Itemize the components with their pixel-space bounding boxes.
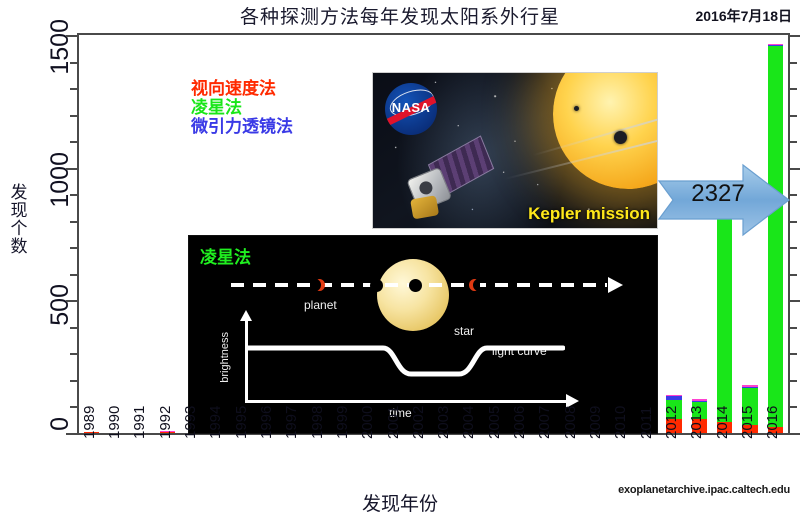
y-tick — [70, 274, 79, 276]
y-tick — [70, 115, 79, 117]
y-tick — [66, 168, 79, 170]
y-tick-right — [788, 115, 797, 117]
bar-segment — [666, 396, 681, 399]
exoplanet-discovery-chart: 各种探测方法每年发现太阳系外行星 2016年7月18日 发现个数 0500100… — [0, 0, 800, 519]
nasa-wordmark: NASA — [385, 100, 437, 115]
kepler-caption: Kepler mission — [528, 204, 650, 224]
y-tick-right — [788, 300, 800, 302]
y-tick-right — [788, 406, 797, 408]
planet-crescent-right-icon — [469, 279, 480, 291]
planet-transiting-icon — [409, 279, 422, 292]
transit-inset-title: 凌星法 — [200, 243, 251, 268]
planet-small-icon — [574, 106, 579, 111]
inset-star-icon — [377, 259, 449, 331]
bar-segment — [692, 399, 707, 401]
bar-segment — [666, 395, 681, 396]
transit-method-inset: 凌星法 planet star light curve brightness t… — [188, 235, 658, 434]
y-tick-right — [788, 433, 800, 435]
planet-crescent-left-icon — [314, 279, 325, 291]
y-tick — [70, 327, 79, 329]
y-tick-right — [788, 327, 797, 329]
y-tick-right — [788, 274, 797, 276]
total-count-value: 2327 — [675, 180, 761, 208]
nasa-logo-icon: NASA — [385, 83, 437, 135]
y-tick — [70, 353, 79, 355]
y-tick — [70, 141, 79, 143]
y-tick-right — [788, 62, 797, 64]
y-tick-right — [788, 194, 797, 196]
y-axis-labels: 发现个数 050010001500 — [0, 0, 77, 460]
plot-area: 视向速度法 凌星法 微引力透镜法 NASA Kepler missi — [77, 33, 790, 435]
thermal-foil-icon — [410, 195, 439, 219]
y-tick — [70, 247, 79, 249]
time-axis — [245, 400, 567, 403]
y-axis-title: 发现个数 — [6, 184, 32, 255]
y-tick-right — [788, 380, 797, 382]
x-axis-labels: 1989199019911992199319941995199619971998… — [77, 437, 790, 485]
y-tick — [70, 406, 79, 408]
planet-label: planet — [304, 298, 337, 312]
y-tick-right — [788, 88, 797, 90]
bar-segment — [692, 401, 707, 402]
planet-ingress-icon — [370, 279, 383, 292]
y-tick — [66, 433, 79, 435]
legend-item-microlensing: 微引力透镜法 — [191, 117, 293, 136]
page-title: 各种探测方法每年发现太阳系外行星 — [0, 2, 800, 29]
brightness-axis-arrow-icon — [240, 310, 252, 321]
legend-item-radial-velocity: 视向速度法 — [191, 79, 293, 98]
y-tick — [70, 194, 79, 196]
planet-large-icon — [614, 131, 627, 144]
orbit-path-arrow-icon — [608, 277, 623, 293]
legend-item-transit: 凌星法 — [191, 98, 293, 117]
bar-segment — [742, 385, 757, 387]
y-tick — [66, 35, 79, 37]
bar-segment — [768, 44, 783, 45]
total-callout: 2327 — [655, 161, 793, 239]
y-tick — [70, 88, 79, 90]
y-tick — [70, 62, 79, 64]
source-attribution: exoplanetarchive.ipac.caltech.edu — [618, 484, 790, 496]
y-tick-right — [788, 35, 800, 37]
y-tick-right — [788, 168, 800, 170]
y-tick-right — [788, 141, 797, 143]
y-tick — [66, 300, 79, 302]
light-curve-path — [245, 332, 565, 392]
y-tick — [70, 380, 79, 382]
brightness-axis-label: brightness — [219, 332, 231, 383]
date-label: 2016年7月18日 — [695, 6, 792, 26]
bar-segment — [742, 386, 757, 387]
y-tick-right — [788, 247, 797, 249]
y-tick-right — [788, 221, 797, 223]
y-tick-right — [788, 353, 797, 355]
legend: 视向速度法 凌星法 微引力透镜法 — [191, 79, 293, 136]
y-tick — [70, 221, 79, 223]
kepler-mission-image: NASA Kepler mission — [372, 72, 658, 229]
